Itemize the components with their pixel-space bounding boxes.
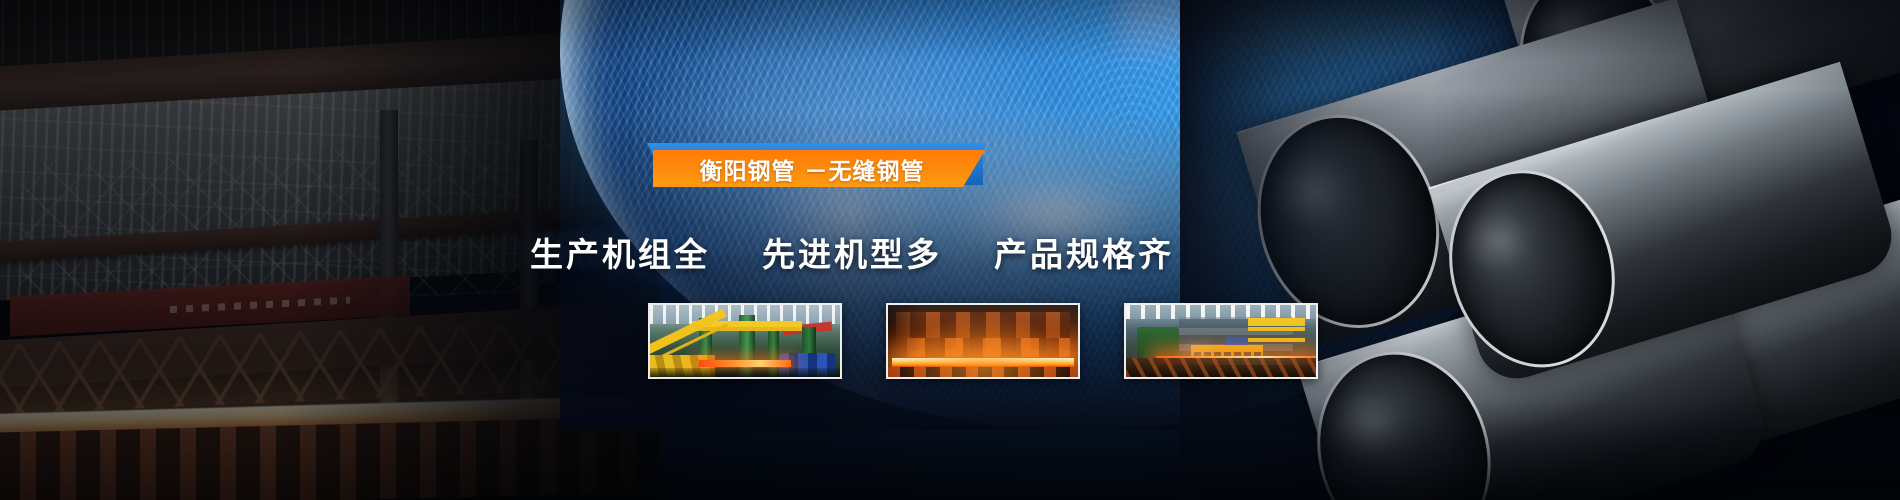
promo-banner: 衡阳钢管 －无缝钢管 生产机组全 先进机型多 产品规格齐 [0,0,1900,500]
thumb1-scene [650,305,840,377]
thumb1-yellow-rail-lower [692,327,802,331]
steel-pipes-scene [1180,0,1900,500]
thumbnail-strip [648,303,1318,379]
thumbnail-hot-billet[interactable] [886,303,1080,379]
thumb3-scene [1126,305,1316,377]
brand-tag-body: 衡阳钢管 －无缝钢管 [653,150,985,187]
thumb1-floor [650,368,840,377]
headline-group: 生产机组全 先进机型多 产品规格齐 [530,228,1174,276]
thumb2-glow-haze [888,305,1078,377]
thumb2-scene [888,305,1078,377]
thumbnail-workshop[interactable] [1124,303,1318,379]
thumb3-yellow-rail [1248,318,1305,326]
thumb3-blue-unit [1225,337,1248,346]
headline-item-1: 生产机组全 [530,228,710,276]
thumb3-yellow-platform-upper [1248,327,1305,343]
headline-item-3: 产品规格齐 [994,228,1174,276]
headline-item-2: 先进机型多 [762,228,942,276]
pipes-left-fade [1180,0,1900,500]
thumb1-hot-pipe [699,360,790,367]
brand-tag-label: 衡阳钢管 －无缝钢管 [699,152,938,186]
thumb3-foreground-scrap [1126,358,1316,377]
thumbnail-rolling-mill[interactable] [648,303,842,379]
